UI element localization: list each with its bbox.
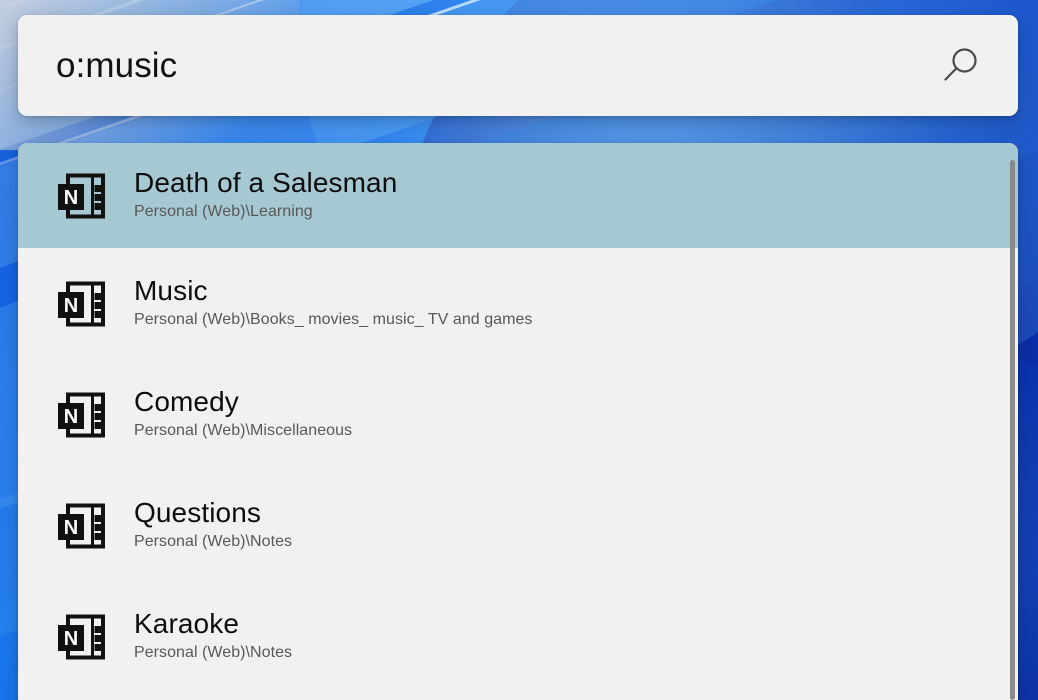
result-subtitle: Personal (Web)\Miscellaneous — [134, 421, 1018, 441]
result-title: Comedy — [134, 386, 1018, 417]
result-title: Death of a Salesman — [134, 167, 1018, 198]
desktop-background: o:music N — [0, 0, 1038, 700]
search-box[interactable]: o:music — [18, 15, 1018, 116]
result-row[interactable]: N Death of a Salesman Personal (Web)\Lea… — [18, 143, 1018, 248]
result-text: Karaoke Personal (Web)\Notes — [134, 608, 1018, 665]
result-text: Death of a Salesman Personal (Web)\Learn… — [134, 167, 1018, 224]
svg-text:N: N — [64, 628, 78, 650]
result-subtitle: Personal (Web)\Notes — [134, 643, 1018, 663]
results-scrollbar[interactable] — [1008, 143, 1018, 700]
search-button[interactable] — [932, 38, 988, 94]
result-title: Karaoke — [134, 608, 1018, 639]
result-row[interactable]: N Questions Personal (Web)\Notes — [18, 470, 1018, 581]
result-title: Music — [134, 275, 1018, 306]
result-row[interactable]: N Music Personal (Web)\Books_ movies_ mu… — [18, 248, 1018, 359]
onenote-icon: N — [54, 279, 110, 329]
onenote-icon: N — [54, 612, 110, 662]
onenote-icon: N — [54, 171, 110, 221]
wallpaper-streak-1 — [0, 0, 1038, 11]
result-subtitle: Personal (Web)\Books_ movies_ music_ TV … — [134, 310, 1018, 330]
onenote-icon: N — [54, 390, 110, 440]
result-subtitle: Personal (Web)\Notes — [134, 532, 1018, 552]
result-row[interactable]: N Karaoke Personal (Web)\Notes — [18, 581, 1018, 692]
result-subtitle: Personal (Web)\Learning — [134, 202, 1018, 222]
svg-text:N: N — [64, 295, 78, 317]
results-scrollbar-thumb[interactable] — [1010, 160, 1015, 700]
search-icon — [938, 44, 982, 88]
result-text: Questions Personal (Web)\Notes — [134, 497, 1018, 554]
result-title: Questions — [134, 497, 1018, 528]
svg-text:N: N — [64, 517, 78, 539]
result-text: Music Personal (Web)\Books_ movies_ musi… — [134, 275, 1018, 332]
search-results-list: N Death of a Salesman Personal (Web)\Lea… — [18, 143, 1018, 692]
svg-text:N: N — [64, 187, 78, 209]
search-input[interactable]: o:music — [56, 48, 932, 83]
svg-text:N: N — [64, 406, 78, 428]
result-row[interactable]: N Comedy Personal (Web)\Miscellaneous — [18, 359, 1018, 470]
onenote-icon: N — [54, 501, 110, 551]
result-text: Comedy Personal (Web)\Miscellaneous — [134, 386, 1018, 443]
search-results-panel: N Death of a Salesman Personal (Web)\Lea… — [18, 143, 1018, 700]
